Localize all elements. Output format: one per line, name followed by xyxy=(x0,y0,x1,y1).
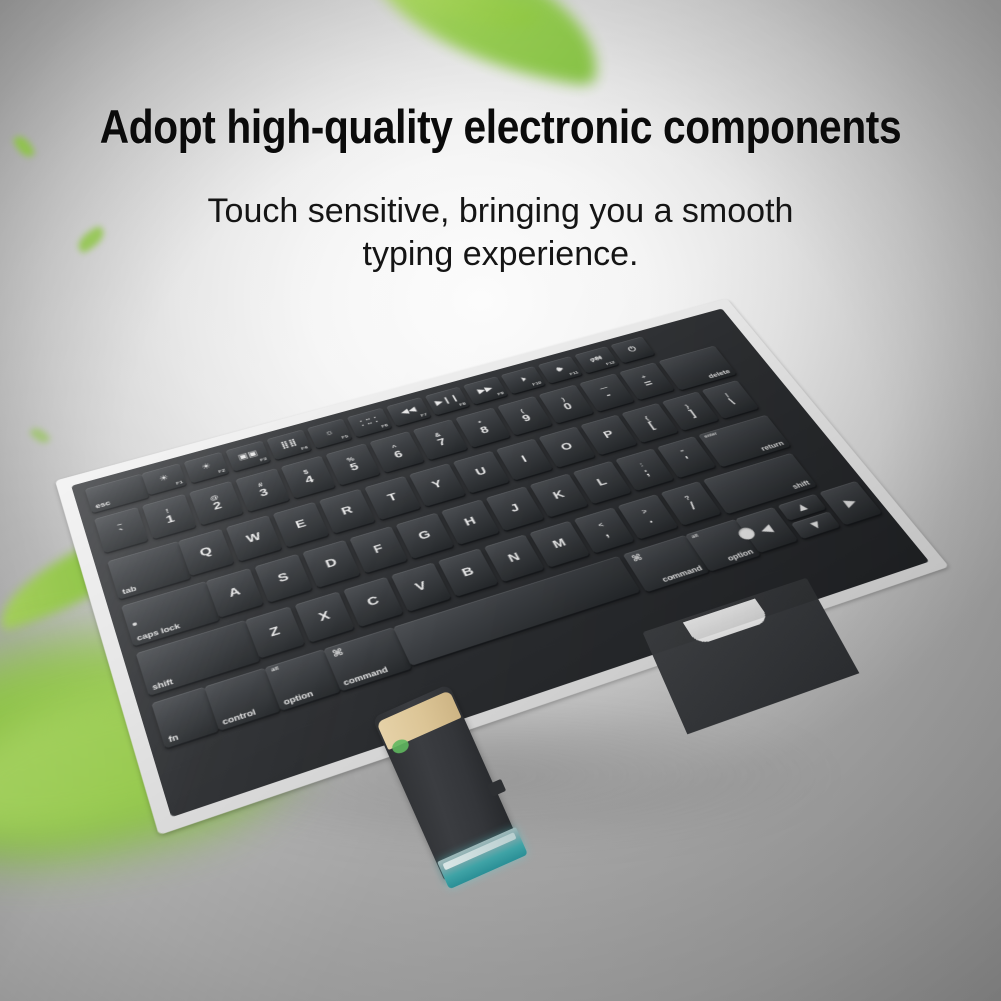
key-fn-number: F8 xyxy=(459,402,467,407)
key-legend: R xyxy=(340,504,355,517)
key-legend-lower: 2 xyxy=(211,500,223,513)
key-fn-icon: ⣿⣿ xyxy=(280,439,299,450)
key-legend: U xyxy=(474,466,489,479)
key-secondary-legend: enter xyxy=(704,432,719,439)
key-fn-number: F7 xyxy=(420,413,428,418)
promo-banner: Adopt high-quality electronic components… xyxy=(0,0,1001,1001)
key-legend-lower: / xyxy=(688,500,699,511)
key-legend: E xyxy=(294,518,308,531)
key-legend: I xyxy=(520,454,530,465)
key-legend: O xyxy=(559,441,575,453)
key-legend-lower: 6 xyxy=(392,449,405,461)
key-fn-icon: ▶▶ xyxy=(476,385,494,395)
key-legend-lower: . xyxy=(644,514,655,526)
keyboard-scene: esc☀F1☀F2▣▣F3⣿⣿F4☼F5⸬⸬F6◀◀F7▶❙❙F8▶▶F9🕨F1… xyxy=(71,308,954,857)
key-fn-icon: 🕪 xyxy=(555,366,565,374)
key-legend-lower: 8 xyxy=(478,424,491,435)
key-legend-lower: 1 xyxy=(164,513,176,526)
key-legend: L xyxy=(595,476,610,488)
key-legend: esc xyxy=(95,500,112,510)
key-fn-number: F6 xyxy=(381,424,389,429)
key-legend-lower: 0 xyxy=(561,401,574,412)
key-fn-icon: 🕬 xyxy=(589,355,605,364)
key-fn-icon: ◀◀ xyxy=(400,406,418,417)
key-legend: K xyxy=(551,489,567,502)
key-fn-icon: ☀ xyxy=(158,474,170,484)
key-fn-icon: 🕨 xyxy=(518,376,528,384)
key-legend-lower: ' xyxy=(683,454,693,465)
key-legend-lower: [ xyxy=(646,420,657,430)
key-legend-lower: 9 xyxy=(520,413,533,424)
key-fn-icon: ▶❙❙ xyxy=(434,395,461,408)
key-legend: T xyxy=(386,491,400,504)
key-legend: H xyxy=(462,515,478,529)
key-legend-lower: - xyxy=(603,390,613,400)
key-legend: P xyxy=(601,429,616,441)
key-fn-icon: ▣▣ xyxy=(237,450,259,462)
key-legend-lower: 4 xyxy=(303,474,315,486)
key-legend-lower: 7 xyxy=(435,436,448,448)
key-fn-number: F3 xyxy=(260,457,268,463)
key-fn-number: F1 xyxy=(176,480,184,486)
key-fn-number: F5 xyxy=(341,435,349,441)
key-fn-icon: ☀ xyxy=(200,463,212,473)
key-legend-lower: 5 xyxy=(348,461,360,473)
key-fn-number: F11 xyxy=(569,371,580,377)
key-fn-number: F9 xyxy=(497,392,505,397)
key-legend: Y xyxy=(430,478,444,491)
key-fn-icon: ⏻ xyxy=(627,346,638,354)
key-legend-lower: ; xyxy=(641,467,652,478)
key-legend: ▼ xyxy=(805,518,826,533)
key-legend-lower: \ xyxy=(727,397,737,407)
key-legend-lower: ] xyxy=(687,408,698,418)
key-legend: J xyxy=(508,502,522,515)
key-legend: ◀ xyxy=(758,523,776,537)
key-fn-icon: ⸬⸬ xyxy=(360,417,380,428)
key-fn-icon: ☼ xyxy=(323,429,335,438)
key-fn-number: F2 xyxy=(218,469,226,475)
key-legend-lower: 3 xyxy=(258,486,270,498)
key-fn-number: F4 xyxy=(301,446,309,452)
key-legend: ▶ xyxy=(842,496,860,509)
key-legend-lower: = xyxy=(642,378,655,389)
key-legend: ▲ xyxy=(792,500,813,514)
